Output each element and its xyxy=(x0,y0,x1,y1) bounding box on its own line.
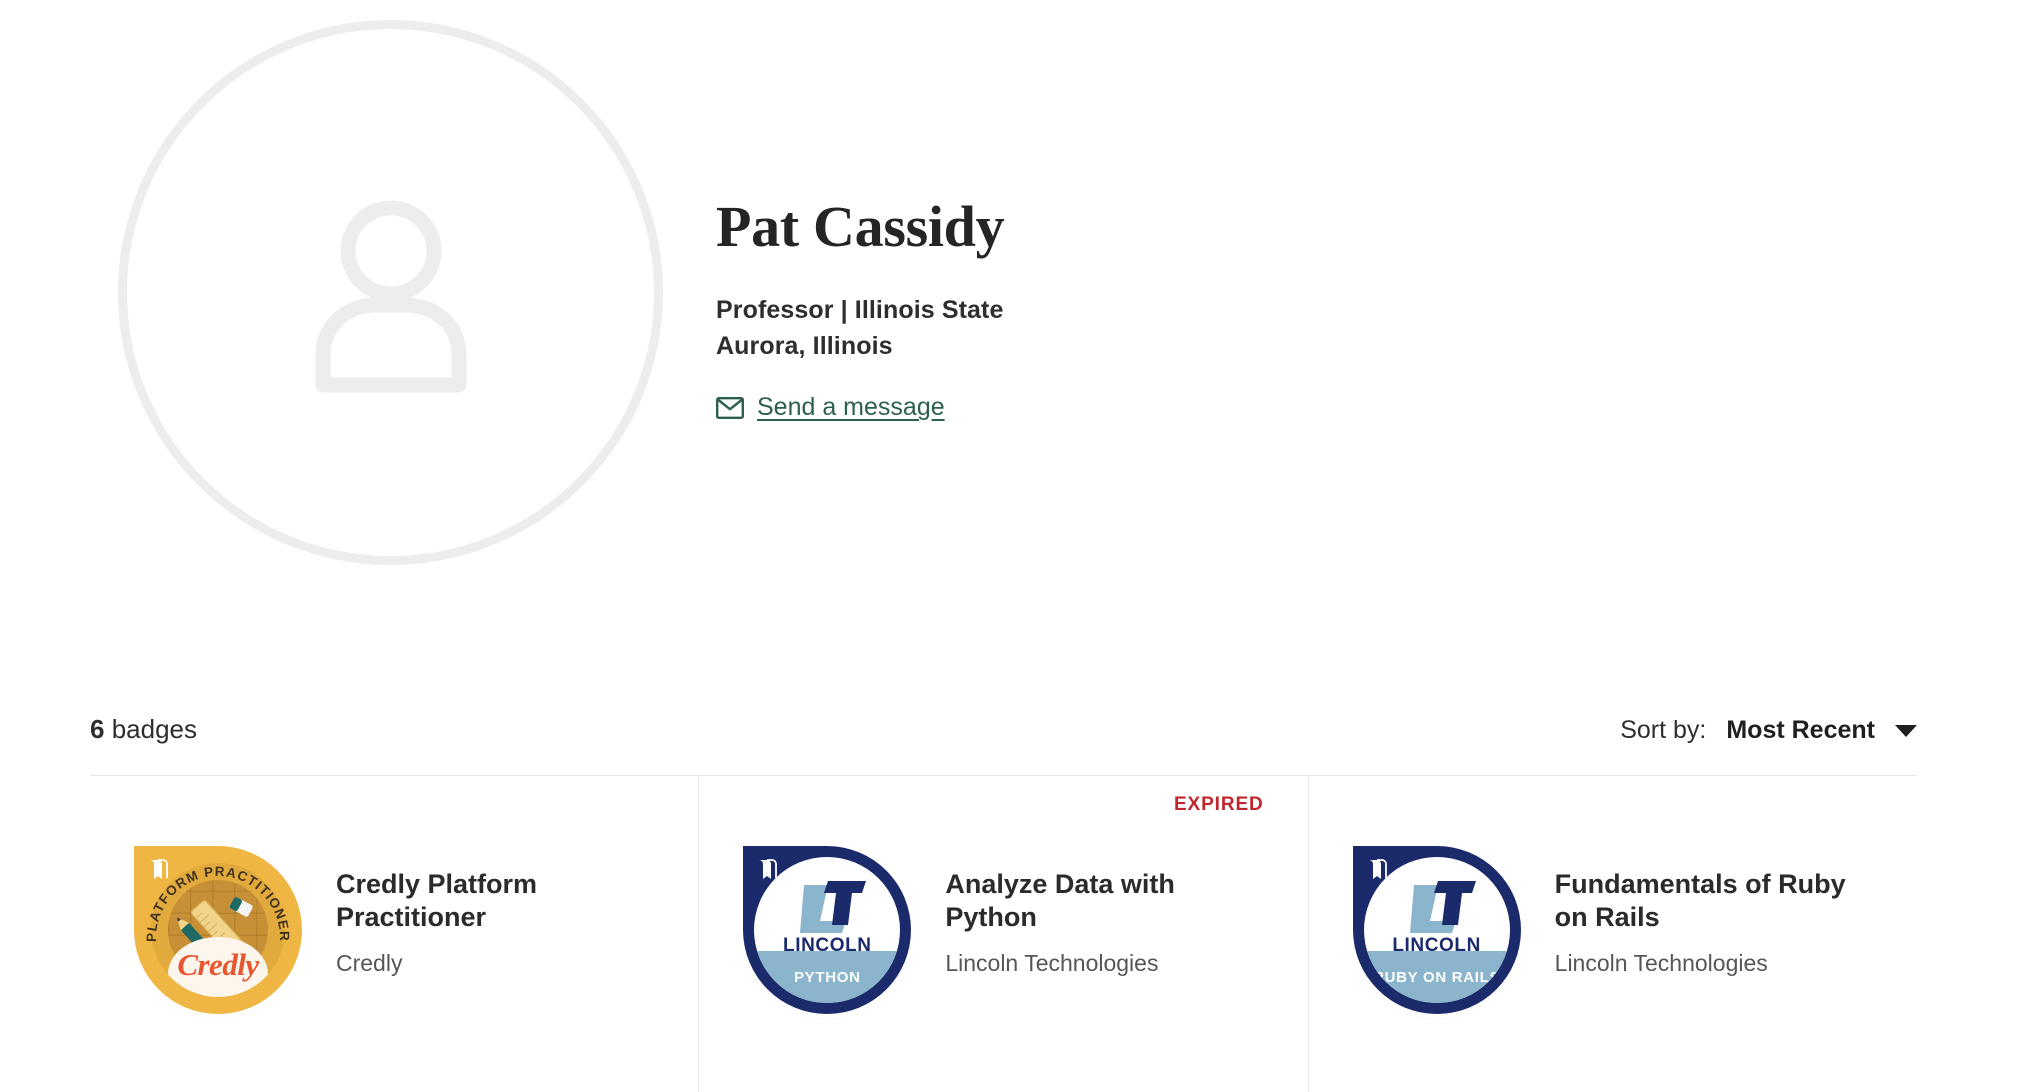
sort-by-dropdown[interactable]: Sort by: Most Recent xyxy=(1620,710,1917,745)
badge-grid: Credly PLATFORM PRACTITIONER xyxy=(90,775,1917,1092)
badges-toolbar: 6 badges Sort by: Most Recent xyxy=(90,710,1917,775)
book-icon xyxy=(1366,858,1387,886)
avatar-circle xyxy=(118,20,663,565)
badge-count-number: 6 xyxy=(90,714,104,744)
badge-title: Credly Platform Practitioner xyxy=(336,868,654,933)
send-message-link[interactable]: Send a message xyxy=(716,393,945,422)
avatar xyxy=(118,20,663,565)
badge-issuer: Lincoln Technologies xyxy=(945,950,1263,978)
profile-title-line: Professor | Illinois State xyxy=(716,293,1816,329)
sort-by-label: Sort by: xyxy=(1620,716,1706,745)
badge-title: Analyze Data with Python xyxy=(945,868,1263,933)
badge-artwork-lincoln: LINCOLN TECHNOLOGIES PYTHON xyxy=(743,846,911,1014)
sort-by-value: Most Recent xyxy=(1726,716,1875,745)
badge-count-suffix: badges xyxy=(104,714,197,744)
badge-card[interactable]: LINCOLN TECHNOLOGIES RUBY ON RAILS xyxy=(1308,776,1917,1092)
badge-artwork-lincoln: LINCOLN TECHNOLOGIES RUBY ON RAILS xyxy=(1353,846,1521,1014)
lincoln-lt-logo xyxy=(1398,881,1476,933)
lincoln-band-label: PYTHON xyxy=(788,970,867,985)
lincoln-band: PYTHON xyxy=(754,951,900,1003)
profile-page: Pat Cassidy Professor | Illinois State A… xyxy=(0,0,2044,1092)
lincoln-band-label: RUBY ON RAILS xyxy=(1367,970,1506,985)
send-message-label: Send a message xyxy=(757,393,945,422)
badge-issuer: Lincoln Technologies xyxy=(1555,950,1873,978)
person-placeholder-icon xyxy=(296,193,486,393)
badge-shape: LINCOLN TECHNOLOGIES PYTHON xyxy=(743,846,911,1014)
profile-info: Pat Cassidy Professor | Illinois State A… xyxy=(716,196,1816,424)
badge-text: Fundamentals of Ruby on Rails Lincoln Te… xyxy=(1555,846,1873,978)
profile-location-line: Aurora, Illinois xyxy=(716,329,1816,365)
lincoln-band: RUBY ON RAILS xyxy=(1364,951,1510,1003)
lincoln-lt-logo xyxy=(788,881,866,933)
badge-card[interactable]: Credly PLATFORM PRACTITIONER xyxy=(90,776,698,1092)
badge-text: Analyze Data with Python Lincoln Technol… xyxy=(945,846,1263,978)
badge-shape: LINCOLN TECHNOLOGIES RUBY ON RAILS xyxy=(1353,846,1521,1014)
badge-shape: Credly PLATFORM PRACTITIONER xyxy=(134,846,302,1014)
badge-title: Fundamentals of Ruby on Rails xyxy=(1555,868,1873,933)
badge-artwork-credly: Credly PLATFORM PRACTITIONER xyxy=(134,846,302,1014)
badge-text: Credly Platform Practitioner Credly xyxy=(336,846,654,978)
page-title: Pat Cassidy xyxy=(716,196,1816,257)
chevron-down-icon[interactable] xyxy=(1895,725,1917,737)
status-badge: EXPIRED xyxy=(1174,794,1264,816)
book-icon xyxy=(147,858,168,886)
badge-count: 6 badges xyxy=(90,710,197,742)
book-icon xyxy=(756,858,777,886)
profile-header: Pat Cassidy Professor | Illinois State A… xyxy=(0,0,2044,660)
envelope-icon xyxy=(716,397,744,419)
badge-card[interactable]: EXPIRED LINCOLN TECHNOLOGIES PYTHON xyxy=(698,776,1307,1092)
badge-issuer: Credly xyxy=(336,950,654,978)
